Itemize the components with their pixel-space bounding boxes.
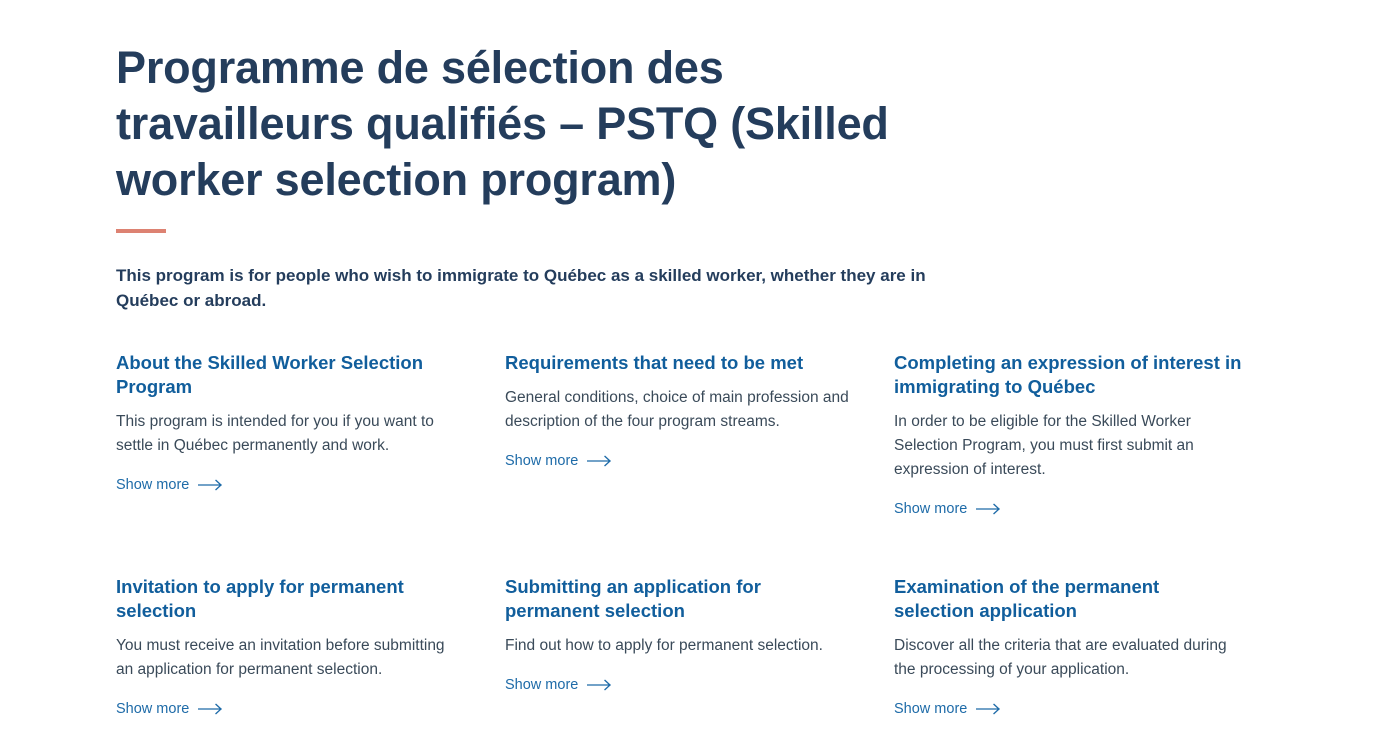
topic-card-description: This program is intended for you if you … — [116, 410, 466, 458]
show-more-label: Show more — [505, 451, 578, 471]
topic-card-title: About the Skilled Worker Selection Progr… — [116, 351, 426, 399]
topic-card-grid: About the Skilled Worker Selection Progr… — [116, 351, 1264, 719]
page-title: Programme de sélection des travailleurs … — [116, 40, 921, 208]
topic-card[interactable]: About the Skilled Worker Selection Progr… — [116, 351, 468, 495]
topic-card[interactable]: Examination of the permanent selection a… — [894, 575, 1246, 719]
topic-card[interactable]: Completing an expression of interest in … — [894, 351, 1246, 519]
show-more-label: Show more — [116, 475, 189, 495]
topic-card-title: Completing an expression of interest in … — [894, 351, 1242, 399]
arrow-right-icon — [587, 455, 613, 467]
page-intro-paragraph: This program is for people who wish to i… — [116, 263, 946, 313]
topic-card-title: Examination of the permanent selection a… — [894, 575, 1242, 623]
topic-card-description: General conditions, choice of main profe… — [505, 386, 855, 434]
topic-card[interactable]: Submitting an application for permanent … — [505, 575, 857, 695]
show-more-link[interactable]: Show more — [505, 451, 613, 471]
topic-card-title: Submitting an application for permanent … — [505, 575, 805, 623]
arrow-right-icon — [976, 703, 1002, 715]
show-more-link[interactable]: Show more — [505, 675, 613, 695]
content-container: Programme de sélection des travailleurs … — [116, 40, 1264, 719]
topic-card-title: Invitation to apply for permanent select… — [116, 575, 426, 623]
topic-card[interactable]: Requirements that need to be met General… — [505, 351, 857, 471]
show-more-link[interactable]: Show more — [894, 699, 1002, 719]
topic-card-description: In order to be eligible for the Skilled … — [894, 410, 1244, 482]
page-root: Programme de sélection des travailleurs … — [0, 0, 1380, 743]
arrow-right-icon — [198, 479, 224, 491]
topic-card-description: Find out how to apply for permanent sele… — [505, 634, 855, 658]
show-more-label: Show more — [894, 499, 967, 519]
show-more-link[interactable]: Show more — [116, 475, 224, 495]
topic-card-description: You must receive an invitation before su… — [116, 634, 466, 682]
show-more-label: Show more — [505, 675, 578, 695]
arrow-right-icon — [976, 503, 1002, 515]
show-more-link[interactable]: Show more — [894, 499, 1002, 519]
show-more-link[interactable]: Show more — [116, 699, 224, 719]
topic-card-description: Discover all the criteria that are evalu… — [894, 634, 1244, 682]
topic-card-title: Requirements that need to be met — [505, 351, 805, 375]
show-more-label: Show more — [894, 699, 967, 719]
title-accent-rule — [116, 229, 166, 233]
topic-card[interactable]: Invitation to apply for permanent select… — [116, 575, 468, 719]
arrow-right-icon — [587, 679, 613, 691]
arrow-right-icon — [198, 703, 224, 715]
show-more-label: Show more — [116, 699, 189, 719]
